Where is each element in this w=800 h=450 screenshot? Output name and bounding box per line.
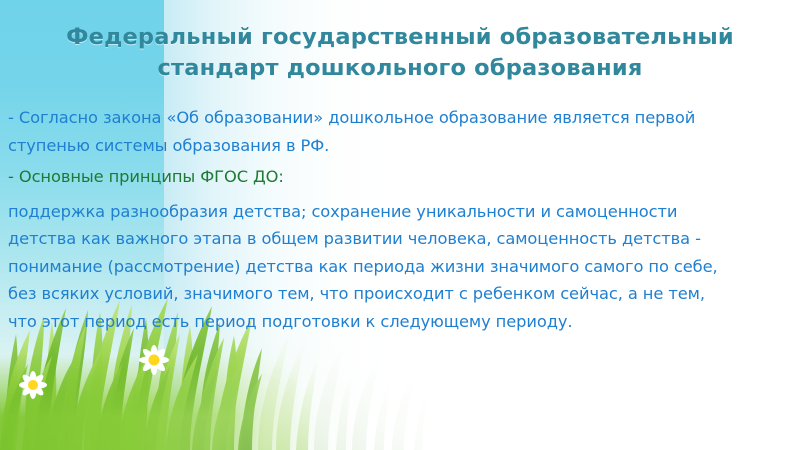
slide-canvas: Федеральный государственный образователь…	[0, 0, 800, 450]
slide-body: - Согласно закона «Об образовании» дошко…	[8, 104, 720, 335]
paragraph-principles-body: поддержка разнообразия детства; сохранен…	[8, 198, 720, 336]
slide-title-line-1: Федеральный государственный образователь…	[40, 22, 760, 53]
paragraph-law: - Согласно закона «Об образовании» дошко…	[8, 104, 720, 159]
paragraph-principles-heading: - Основные принципы ФГОС ДО:	[8, 163, 720, 191]
slide-title: Федеральный государственный образователь…	[40, 22, 760, 84]
slide-title-line-2: стандарт дошкольного образования	[40, 53, 760, 84]
